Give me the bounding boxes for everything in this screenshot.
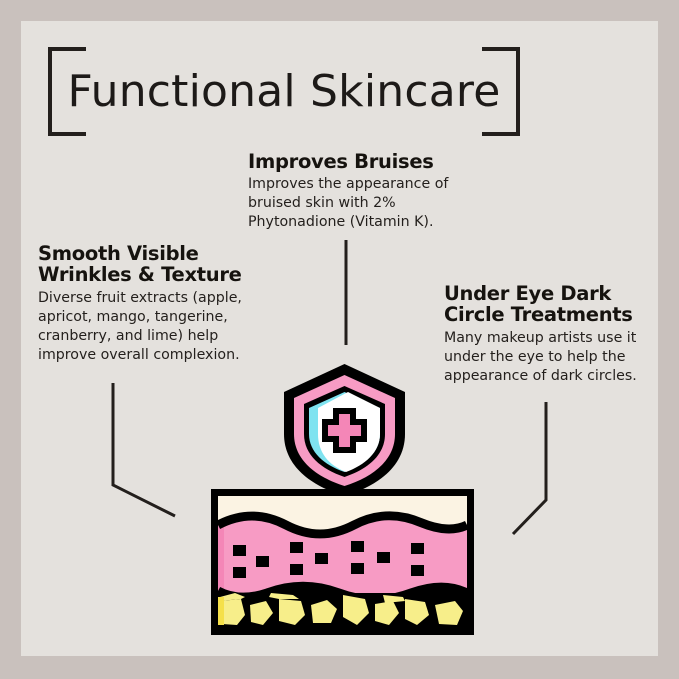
callout-smooth-visible-wrinkles: Smooth Visible Wrinkles & Texture Divers… xyxy=(38,243,244,364)
callout-body: Diverse fruit extracts (apple, apricot, … xyxy=(38,289,244,365)
shield-icon xyxy=(278,362,411,498)
skin-cross-section-diagram xyxy=(211,489,474,635)
callout-body: Many makeup artists use it under the eye… xyxy=(444,329,644,386)
callout-heading: Improves Bruises xyxy=(248,151,458,172)
callout-improves-bruises: Improves Bruises Improves the appearance… xyxy=(248,151,458,232)
page-title: Functional Skincare xyxy=(48,47,520,136)
callout-heading: Smooth Visible Wrinkles & Texture xyxy=(38,243,244,286)
skin-fat-edge-accent xyxy=(218,597,224,625)
callout-body: Improves the appearance of bruised skin … xyxy=(248,175,458,232)
callout-under-eye-dark-circles: Under Eye Dark Circle Treatments Many ma… xyxy=(444,283,644,386)
page-title-block: Functional Skincare xyxy=(48,47,520,136)
skin-dermis-edge-accent xyxy=(218,527,224,593)
infographic-root: Functional Skincare Improves Bruises Imp… xyxy=(0,0,679,679)
callout-heading: Under Eye Dark Circle Treatments xyxy=(444,283,644,326)
